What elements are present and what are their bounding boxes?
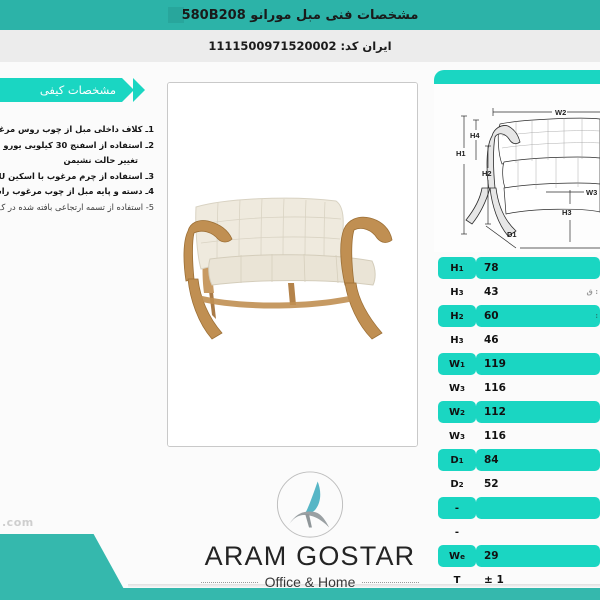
dimension-key: W2: [438, 401, 476, 423]
table-row: H346: [434, 328, 600, 352]
dimension-value: 116: [476, 425, 600, 447]
table-row: D252: [434, 472, 600, 496]
brand-logo: ARAM GOSTAR Office & Home: [195, 470, 425, 590]
quality-spec-list: 1ـ کلاف داخلی مبل از چوب روس مرغوب 2ـ اس…: [0, 122, 158, 215]
dimension-key: H1: [438, 257, 476, 279]
table-row: -: [434, 520, 600, 544]
dim-label-d1: D1: [507, 230, 517, 239]
dimension-value: 112: [476, 401, 600, 423]
dimension-value: 119: [476, 353, 600, 375]
double-chevron-left-icon: [122, 78, 156, 102]
dimension-key: H2: [438, 305, 476, 327]
dimension-value: 116: [476, 377, 600, 399]
brand-name: ARAM GOSTAR: [205, 541, 416, 572]
technical-drawing: W2 H4 H1 H2 H3 W3 D1: [434, 84, 600, 252]
product-photo-card: [167, 82, 418, 447]
list-item: 2ـ استفاده از اسفنج 30 کیلویی یورو با دا: [0, 138, 154, 154]
dimension-value: 52: [476, 473, 600, 495]
dim-label-h4: H4: [470, 131, 480, 140]
dimension-key: H3: [438, 329, 476, 351]
dimension-value: 43: ق: [476, 281, 600, 303]
table-row: W1119: [434, 352, 600, 376]
list-item: 1ـ کلاف داخلی مبل از چوب روس مرغوب: [0, 122, 154, 138]
table-row: H178: [434, 256, 600, 280]
dimension-value: [476, 497, 600, 519]
iran-code-bar: ایران کد: 1111500971520002: [0, 30, 600, 62]
dimension-value: 60:: [476, 305, 600, 327]
dimension-value: 84: [476, 449, 600, 471]
table-row: We29: [434, 544, 600, 568]
dimension-value: 29: [476, 545, 600, 567]
table-row: D184: [434, 448, 600, 472]
dimension-key: -: [438, 497, 476, 519]
page-header: مشخصات فنی مبل مورانو 580B208: [0, 0, 600, 30]
dimensions-table: H178H343: قH260:H346W1119W3116W2112W3116…: [434, 256, 600, 592]
table-row: H343: ق: [434, 280, 600, 304]
product-photo-sofa: [168, 83, 418, 447]
table-row: W3116: [434, 424, 600, 448]
chair-logo-icon: [274, 470, 346, 539]
dimension-note: :: [595, 312, 598, 320]
page-title: مشخصات فنی مبل مورانو 580B208: [182, 8, 419, 23]
dimension-key: W1: [438, 353, 476, 375]
dimension-value: 78: [476, 257, 600, 279]
table-row: W2112: [434, 400, 600, 424]
list-item: 4ـ دسته و پایه مبل از چوب مرغوب راش ب: [0, 184, 154, 200]
table-row: W3116: [434, 376, 600, 400]
table-row: H260:: [434, 304, 600, 328]
dimension-value: 46: [476, 329, 600, 351]
spec-sheet-page: مشخصات فنی مبل مورانو 580B208 ایران کد: …: [0, 0, 600, 600]
dim-label-w3: W3: [586, 188, 597, 197]
dimension-key: We: [438, 545, 476, 567]
list-item: 5- استفاده از تسمه ارتجاعی بافته شده در …: [0, 200, 154, 216]
dimension-note: : ق: [587, 288, 599, 296]
square-badge-icon: [168, 7, 184, 23]
dimension-key: H3: [438, 281, 476, 303]
tagline-divider-left: [201, 582, 258, 583]
dimension-key: D2: [438, 473, 476, 495]
dim-label-h2: H2: [482, 169, 492, 178]
dim-label-h3: H3: [562, 208, 572, 217]
iran-code-text: ایران کد: 1111500971520002: [208, 39, 391, 53]
dimension-key: -: [438, 521, 476, 543]
dimension-key: W3: [438, 425, 476, 447]
footer-bar: [0, 588, 600, 600]
table-row: -: [434, 496, 600, 520]
tagline-divider-right: [362, 582, 419, 583]
quality-spec-header: مشخصات کیفی: [0, 78, 122, 102]
dimension-key: D1: [438, 449, 476, 471]
list-item: تغییر حالت نشیمن: [0, 153, 154, 169]
dim-label-h1: H1: [456, 149, 466, 158]
dimension-value: [476, 521, 600, 543]
sofa-dimension-diagram: W2 H4 H1 H2 H3 W3 D1: [434, 84, 600, 252]
list-item: 3ـ استفاده از چرم مرغوب با اسکین PU: [0, 169, 154, 185]
quality-spec-label: مشخصات کیفی: [40, 83, 116, 97]
dimension-key: W3: [438, 377, 476, 399]
dim-label-w2: W2: [555, 108, 566, 117]
site-watermark: .com: [2, 516, 34, 529]
